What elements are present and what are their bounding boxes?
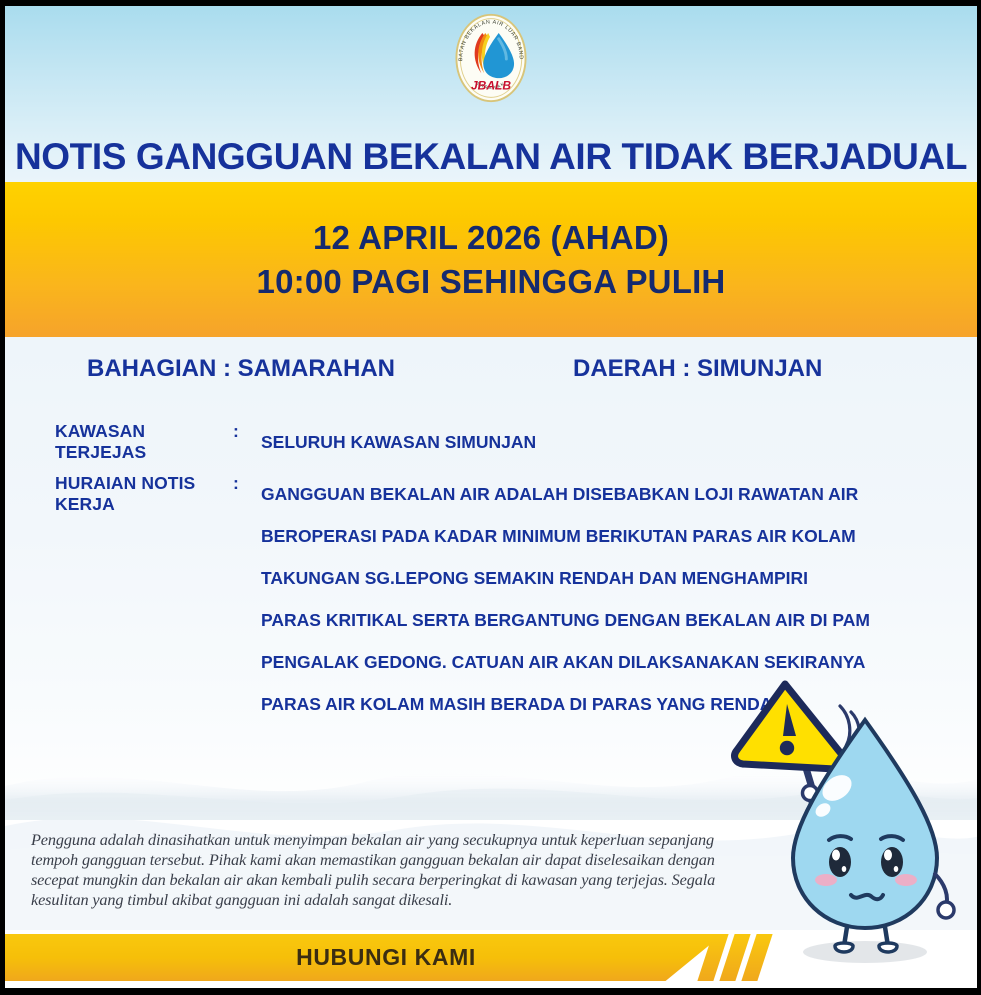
description-line: PENGALAK GEDONG. CATUAN AIR AKAN DILAKSA… (261, 641, 870, 683)
description-line: GANGGUAN BEKALAN AIR ADALAH DISEBABKAN L… (261, 473, 870, 515)
disclaimer-text: Pengguna adalah dinasihatkan untuk menyi… (31, 830, 721, 910)
disclaimer-area: Pengguna adalah dinasihatkan untuk menyi… (5, 820, 977, 930)
field-label: HURAIAN NOTIS KERJA (5, 473, 233, 725)
description-line: TAKUNGAN SG.LEPONG SEMAKIN RENDAH DAN ME… (261, 557, 870, 599)
notice-time: 10:00 PAGI SEHINGGA PULIH (257, 263, 726, 301)
contact-website[interactable]: https://jbalb.sarawak.gov.my/ (337, 988, 571, 995)
contact-call-centre[interactable]: CALL CENTRE JBALB SARAWAK 082-262211 JBA… (33, 988, 289, 995)
water-disruption-notice-poster: JABATAN BEKALAN AIR LUAR BANDAR SARAWAK … (0, 0, 981, 995)
contact-banner: HUBUNGI KAMI (5, 934, 723, 981)
svg-text:JBALB: JBALB (471, 79, 511, 93)
district-label: DAERAH : SIMUNJAN (573, 355, 822, 383)
field-colon: : (233, 421, 261, 463)
notice-date: 12 APRIL 2026 (AHAD) (313, 219, 669, 257)
region-row: BAHAGIAN : SAMARAHAN DAERAH : SIMUNJAN (5, 355, 977, 383)
notice-body: BAHAGIAN : SAMARAHAN DAERAH : SIMUNJAN K… (5, 337, 977, 820)
field-affected-area: KAWASAN TERJEJAS : SELURUH KAWASAN SIMUN… (5, 421, 536, 463)
description-line: BEROPERASI PADA KADAR MINIMUM BERIKUTAN … (261, 515, 870, 557)
person-icon (33, 988, 69, 995)
contact-section: HUBUNGI KAMI CALL CENTRE JBALB SARAWAK 0… (5, 930, 977, 995)
date-time-band: 12 APRIL 2026 (AHAD) 10:00 PAGI SEHINGGA… (5, 182, 977, 337)
contact-call-text: CALL CENTRE JBALB SARAWAK 082-262211 JBA… (87, 988, 289, 995)
description-line: PARAS KRITIKAL SERTA BERGANTUNG DENGAN B… (261, 599, 870, 641)
description-line: PARAS AIR KOLAM MASIH BERADA DI PARAS YA… (261, 683, 870, 725)
contact-instagram[interactable]: jbalbsarawak (645, 988, 781, 995)
field-work-description: HURAIAN NOTIS KERJA : GANGGUAN BEKALAN A… (5, 473, 870, 725)
contact-banner-title: HUBUNGI KAMI (296, 944, 476, 971)
call-line-1: CALL CENTRE JBALB SARAWAK (87, 991, 289, 995)
field-value: GANGGUAN BEKALAN AIR ADALAH DISEBABKAN L… (261, 473, 870, 725)
poster-header: JABATAN BEKALAN AIR LUAR BANDAR SARAWAK … (5, 6, 977, 182)
globe-icon (337, 988, 373, 995)
instagram-icon (645, 988, 681, 995)
affected-area-value: SELURUH KAWASAN SIMUNJAN (261, 421, 536, 463)
website-url: https://jbalb.sarawak.gov.my/ (391, 988, 571, 995)
page-title: NOTIS GANGGUAN BEKALAN AIR TIDAK BERJADU… (5, 136, 977, 178)
water-texture-decoration (5, 716, 977, 820)
instagram-handle: jbalbsarawak (699, 988, 781, 995)
jbalb-logo: JABATAN BEKALAN AIR LUAR BANDAR SARAWAK … (443, 10, 539, 106)
division-label: BAHAGIAN : SAMARAHAN (87, 355, 395, 383)
field-colon: : (233, 473, 261, 725)
field-label: KAWASAN TERJEJAS (5, 421, 233, 463)
field-value: SELURUH KAWASAN SIMUNJAN (261, 421, 536, 463)
